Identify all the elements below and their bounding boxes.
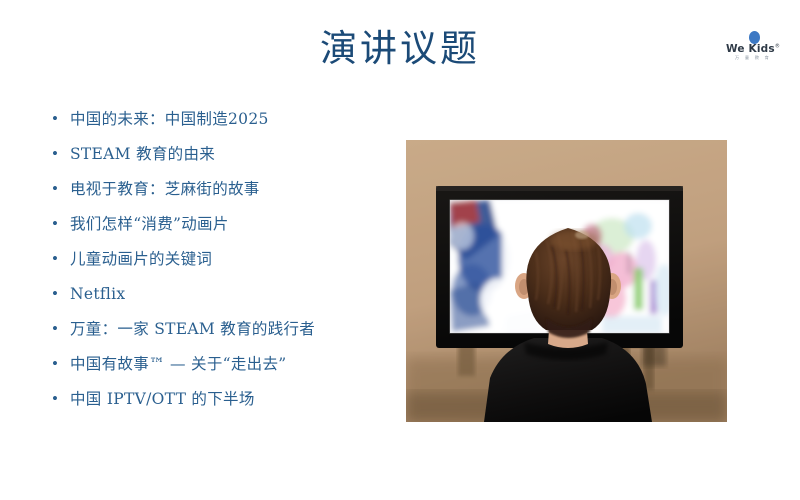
list-item[interactable]: • Netflix	[52, 279, 392, 314]
bullet-marker-icon: •	[52, 174, 70, 204]
list-item-label: Netflix	[70, 279, 392, 309]
logo-wordmark: We Kids®	[722, 43, 784, 55]
list-item[interactable]: • 万童：一家 STEAM 教育的践行者	[52, 314, 392, 349]
list-item-label: 中国的未来：中国制造2025	[70, 104, 392, 134]
bullet-marker-icon: •	[52, 384, 70, 414]
bullet-marker-icon: •	[52, 349, 70, 379]
list-item[interactable]: • 中国 IPTV/OTT 的下半场	[52, 384, 392, 419]
list-item[interactable]: • STEAM 教育的由来	[52, 139, 392, 174]
bullet-marker-icon: •	[52, 279, 70, 309]
list-item-label: 我们怎样“消费”动画片	[70, 209, 392, 239]
bullet-marker-icon: •	[52, 314, 70, 344]
bullet-marker-icon: •	[52, 244, 70, 274]
agenda-bullet-list: • 中国的未来：中国制造2025 • STEAM 教育的由来 • 电视于教育：芝…	[52, 104, 392, 419]
slide-photo-boy-watching-tv	[406, 140, 727, 422]
list-item[interactable]: • 我们怎样“消费”动画片	[52, 209, 392, 244]
presentation-slide: 演讲议题 We Kids® 万 童 教 育 • 中国的未来：中国制造2025 •…	[0, 0, 800, 500]
list-item[interactable]: • 中国的未来：中国制造2025	[52, 104, 392, 139]
list-item-label: 电视于教育：芝麻街的故事	[70, 174, 392, 204]
list-item-label: 万童：一家 STEAM 教育的践行者	[70, 314, 392, 344]
list-item-label: STEAM 教育的由来	[70, 139, 392, 169]
logo-subtext: 万 童 教 育	[722, 55, 784, 61]
logo-wordmark-text: We Kids	[726, 43, 775, 55]
list-item-label: 中国 IPTV/OTT 的下半场	[70, 384, 392, 414]
page-title: 演讲议题	[0, 26, 800, 72]
bullet-marker-icon: •	[52, 139, 70, 169]
list-item[interactable]: • 电视于教育：芝麻街的故事	[52, 174, 392, 209]
list-item-label: 儿童动画片的关键词	[70, 244, 392, 274]
list-item[interactable]: • 儿童动画片的关键词	[52, 244, 392, 279]
bullet-marker-icon: •	[52, 209, 70, 239]
list-item-label: 中国有故事™ — 关于“走出去”	[70, 349, 392, 379]
list-item[interactable]: • 中国有故事™ — 关于“走出去”	[52, 349, 392, 384]
logo-trademark-icon: ®	[775, 44, 780, 50]
brand-logo: We Kids® 万 童 教 育	[722, 30, 784, 70]
bullet-marker-icon: •	[52, 104, 70, 134]
